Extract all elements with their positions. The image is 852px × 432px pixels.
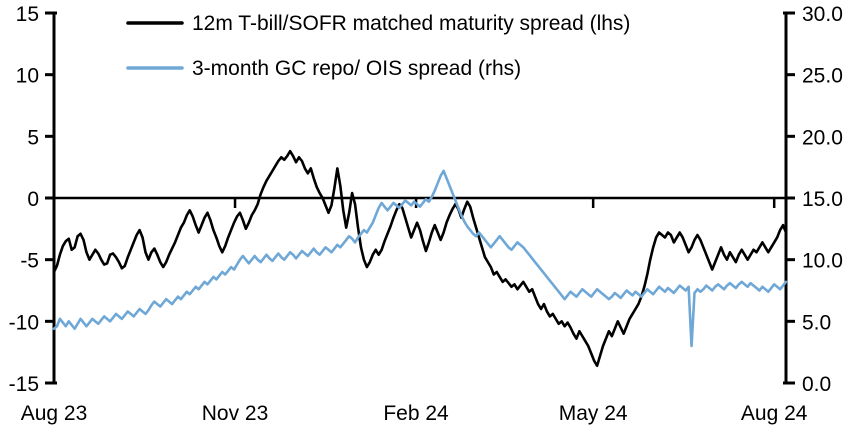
left-tick-label: 5 [27,126,39,149]
left-tick-label: 15 [16,3,39,26]
chart-legend: 12m T-bill/SOFR matched maturity spread … [128,12,630,80]
right-tick-label: 20.0 [802,126,843,149]
legend-label-tbill-sofr: 12m T-bill/SOFR matched maturity spread … [192,12,630,35]
x-tick-label: Aug 24 [741,402,808,425]
x-tick-label: Aug 23 [21,402,88,425]
series-line-tbill-sofr [54,151,786,366]
right-tick-label: 25.0 [802,65,843,88]
left-tick-label: -5 [20,250,39,273]
left-tick-label: 10 [16,65,39,88]
left-tick-label: -10 [9,311,39,334]
x-tick-label: May 24 [559,402,628,425]
right-tick-label: 10.0 [802,250,843,273]
line-chart: 151050-5-10-15 30.025.020.015.010.05.00.… [0,0,852,432]
left-tick-label: 0 [27,188,39,211]
right-tick-label: 0.0 [802,373,831,396]
right-tick-label: 15.0 [802,188,843,211]
x-tick-label: Feb 24 [383,402,449,425]
series-group [54,151,786,366]
left-axis-tick-labels: 151050-5-10-15 [9,3,39,396]
left-tick-label: -15 [9,373,39,396]
right-axis-tick-labels: 30.025.020.015.010.05.00.0 [802,3,843,396]
right-tick-label: 5.0 [802,311,831,334]
chart-container: 151050-5-10-15 30.025.020.015.010.05.00.… [0,0,852,432]
right-tick-label: 30.0 [802,3,843,26]
x-axis-tick-labels: Aug 23Nov 23Feb 24May 24Aug 24 [21,402,808,425]
legend-label-gc-repo-ois: 3-month GC repo/ OIS spread (rhs) [192,57,521,80]
x-tick-label: Nov 23 [202,402,269,425]
